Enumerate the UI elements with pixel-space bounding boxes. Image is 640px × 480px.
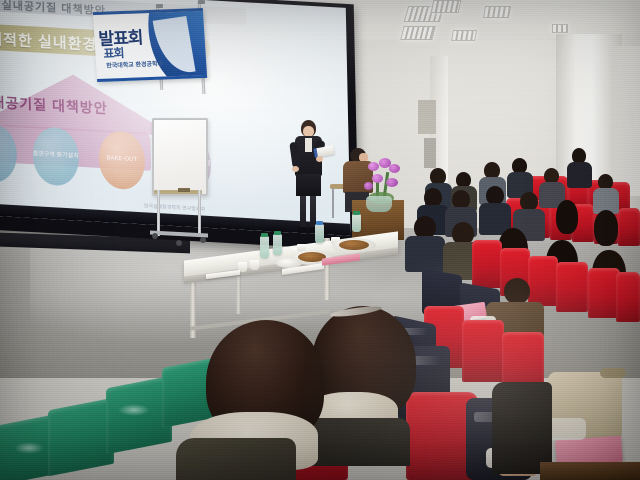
paper-cup-2: [250, 260, 259, 270]
presenter-shirt: [305, 138, 312, 152]
ceiling-light-3: [431, 0, 462, 13]
water-bottle-3: [315, 224, 324, 243]
red-seat-r3-3[interactable]: [528, 256, 558, 306]
green-seat-wear-1: [14, 442, 44, 454]
whiteboard-caster-1: [152, 233, 158, 239]
ceiling-light-6: [552, 24, 568, 33]
presenter-shoe-left: [298, 227, 307, 232]
banner-pole-cap-1: [156, 4, 163, 8]
green-bench-seat-2[interactable]: [48, 398, 114, 477]
banner-line-2: 표회: [103, 44, 124, 62]
person-head: [504, 278, 530, 304]
bag-strap: [600, 368, 626, 378]
presenter-hand-left: [292, 166, 299, 172]
flower-vase: [366, 196, 392, 212]
event-banner: 발표회 표회 한국대학교 환경공학과: [93, 8, 207, 82]
ceiling-light-2: [400, 26, 435, 40]
green-seat-wear-2: [118, 404, 150, 416]
whiteboard-eraser: [178, 188, 190, 192]
whiteboard-caster-3: [176, 240, 182, 246]
bottle-cap-2: [274, 231, 281, 235]
plastic-wrapper: [546, 418, 586, 440]
red-seat-r3-6[interactable]: [616, 272, 640, 322]
red-seat-r3-4[interactable]: [556, 262, 588, 312]
red-seat-r2-6[interactable]: [618, 208, 640, 246]
wooden-armrest: [540, 462, 640, 480]
person-hair-long: [556, 200, 578, 234]
presenter-skirt: [296, 174, 321, 196]
person-hair-long: [594, 210, 618, 246]
foreground-woman-fleece-collar: [196, 320, 356, 480]
dark-jacket-sleeve: [492, 382, 552, 474]
bottle-cap-1: [261, 233, 268, 237]
red-seat-r4-2[interactable]: [462, 320, 504, 382]
whiteboard-leg-left: [157, 190, 160, 236]
mobile-whiteboard: [152, 118, 208, 196]
wall-panel: [418, 100, 436, 134]
wall-panel-lower: [424, 138, 436, 168]
column-far-right: [612, 46, 640, 196]
red-seat-r3-1[interactable]: [472, 240, 502, 288]
bottle-cap-3: [316, 221, 323, 225]
water-bottle-4: [352, 214, 361, 232]
whiteboard-caster-2: [200, 237, 206, 243]
banner-line-3: 한국대학교 환경공학과: [106, 59, 163, 70]
ceiling-light-5: [451, 30, 477, 41]
photograph-lecture-hall: 실내공기질 대책방안 쾌적한 실내환경 실내공기질 대책방안 환기 흡연구역 환…: [0, 0, 640, 480]
coat: [176, 438, 296, 480]
person-body: [405, 236, 445, 272]
bottle-cap-4: [353, 211, 360, 215]
presenter: [288, 120, 330, 238]
person-body: [567, 162, 592, 188]
whiteboard-leg-right: [198, 190, 201, 236]
water-bottle-2: [273, 234, 282, 255]
presenter-hand-right: [316, 156, 323, 162]
banner-pole-cap-2: [198, 0, 205, 4]
ceiling-light-4: [483, 6, 511, 18]
presenter-leg-left: [300, 196, 306, 228]
food-items-2: [339, 240, 369, 250]
water-bottle-1: [260, 236, 269, 258]
